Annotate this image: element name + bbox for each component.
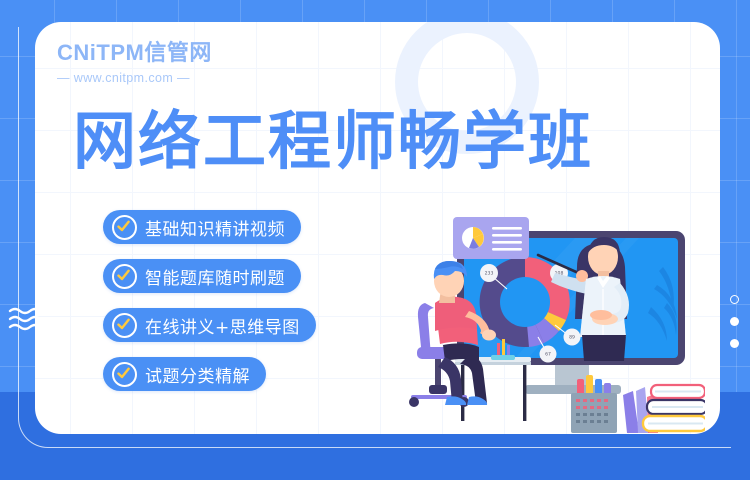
svg-text:89: 89 bbox=[569, 335, 575, 341]
feature-pill-label: 基础知识精讲视频 bbox=[145, 215, 285, 240]
page-title: 网络工程师畅学班 bbox=[73, 110, 593, 173]
brand-logo: CNiTPM信管网 — www.cnitpm.com — bbox=[57, 42, 212, 85]
check-circle-icon bbox=[112, 215, 137, 240]
desk bbox=[455, 357, 531, 421]
feature-pill-2[interactable]: 智能题库随时刷题 bbox=[103, 259, 301, 293]
feature-pill-3[interactable]: 在线讲义+思维导图 bbox=[103, 308, 316, 342]
feature-pill-label: 在线讲义+思维导图 bbox=[145, 313, 300, 338]
carousel-dot-1[interactable] bbox=[730, 295, 739, 304]
feature-pill-4[interactable]: 试题分类精解 bbox=[103, 357, 266, 391]
logo-text: CNiTPM信管网 bbox=[57, 42, 212, 64]
check-circle-icon bbox=[112, 264, 137, 289]
book-stack bbox=[643, 385, 705, 431]
svg-text:67: 67 bbox=[545, 352, 551, 358]
pen-holder bbox=[571, 375, 617, 433]
carousel-dot-2[interactable] bbox=[730, 317, 739, 326]
check-circle-icon bbox=[112, 313, 137, 338]
logo-url: — www.cnitpm.com — bbox=[57, 71, 212, 85]
content-card: CNiTPM信管网 — www.cnitpm.com — 网络工程师畅学班 基础… bbox=[35, 22, 720, 434]
feature-pill-label: 试题分类精解 bbox=[145, 362, 250, 387]
svg-text:233: 233 bbox=[485, 271, 494, 277]
wave-decoration-icon bbox=[8, 306, 48, 337]
carousel-dot-3[interactable] bbox=[730, 339, 739, 348]
floating-chart-card bbox=[453, 217, 529, 259]
feature-list: 基础知识精讲视频 智能题库随时刷题 在线讲义+思维导图 试题分类精解 bbox=[103, 210, 316, 406]
feature-pill-1[interactable]: 基础知识精讲视频 bbox=[103, 210, 301, 244]
carousel-dots[interactable] bbox=[730, 295, 739, 361]
promo-banner: CNiTPM信管网 — www.cnitpm.com — 网络工程师畅学班 基础… bbox=[0, 0, 750, 480]
check-circle-icon bbox=[112, 362, 137, 387]
feature-pill-label: 智能题库随时刷题 bbox=[145, 264, 285, 289]
online-class-illustration: 233 108 89 67 bbox=[405, 207, 705, 434]
